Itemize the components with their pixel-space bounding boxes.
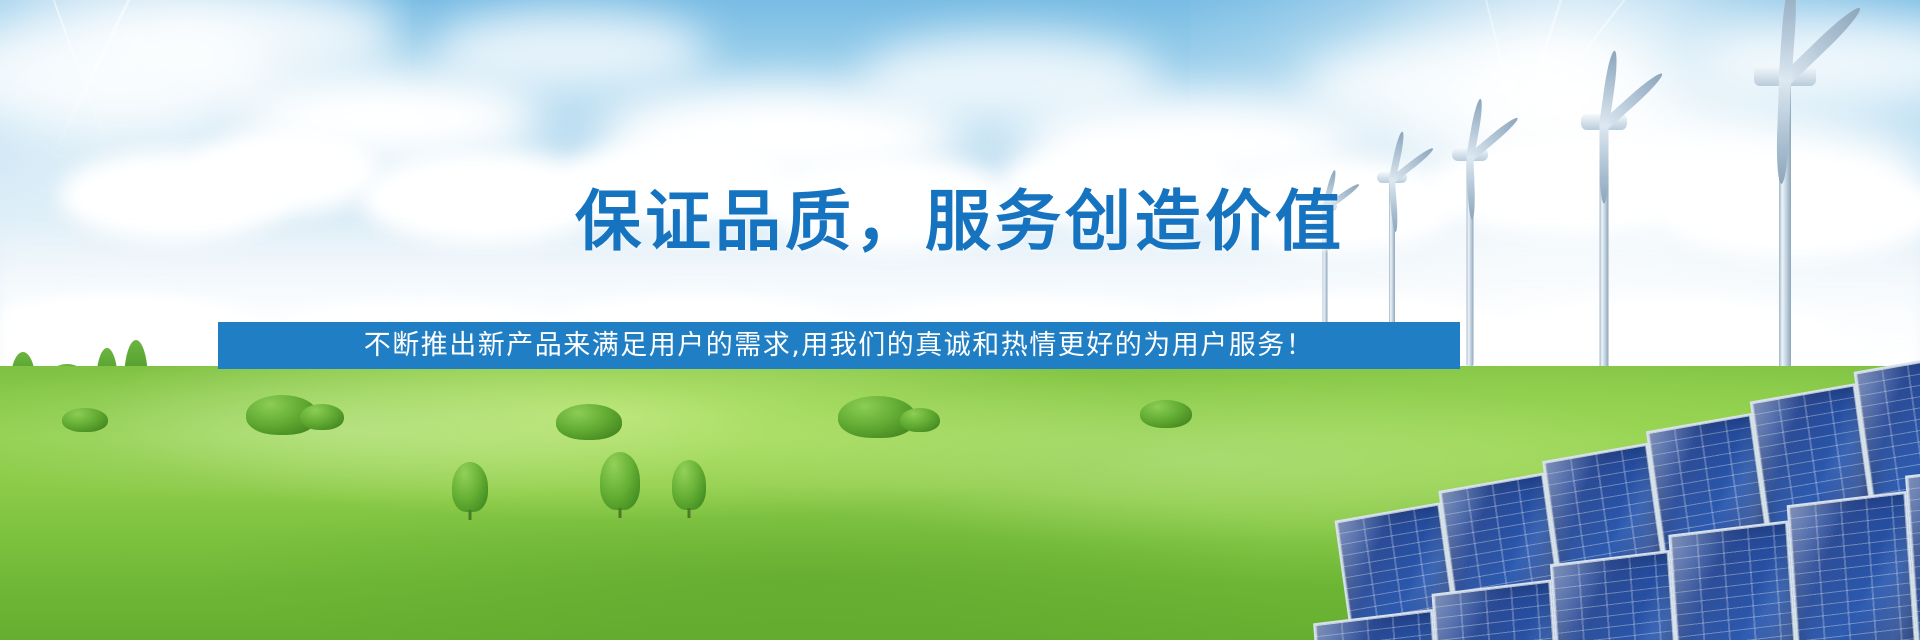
hill-shading bbox=[200, 486, 1400, 640]
bush bbox=[1140, 400, 1192, 428]
banner-subtitle-text: 不断推出新产品来满足用户的需求,用我们的真诚和热情更好的为用户服务！ bbox=[364, 332, 1315, 359]
banner-subtitle-bar: 不断推出新产品来满足用户的需求,用我们的真诚和热情更好的为用户服务！ bbox=[218, 322, 1460, 369]
banner-headline: 保证品质，服务创造价值 bbox=[0, 168, 1920, 264]
sapling bbox=[600, 452, 640, 518]
bush bbox=[300, 404, 344, 430]
hero-banner: 保证品质，服务创造价值 不断推出新产品来满足用户的需求,用我们的真诚和热情更好的… bbox=[0, 0, 1920, 640]
hill-shading bbox=[0, 356, 780, 506]
bush bbox=[556, 404, 622, 440]
sapling bbox=[672, 460, 706, 518]
bush bbox=[62, 408, 108, 432]
sapling bbox=[452, 462, 488, 520]
hill-shading bbox=[1250, 466, 1920, 640]
bush bbox=[900, 408, 940, 432]
